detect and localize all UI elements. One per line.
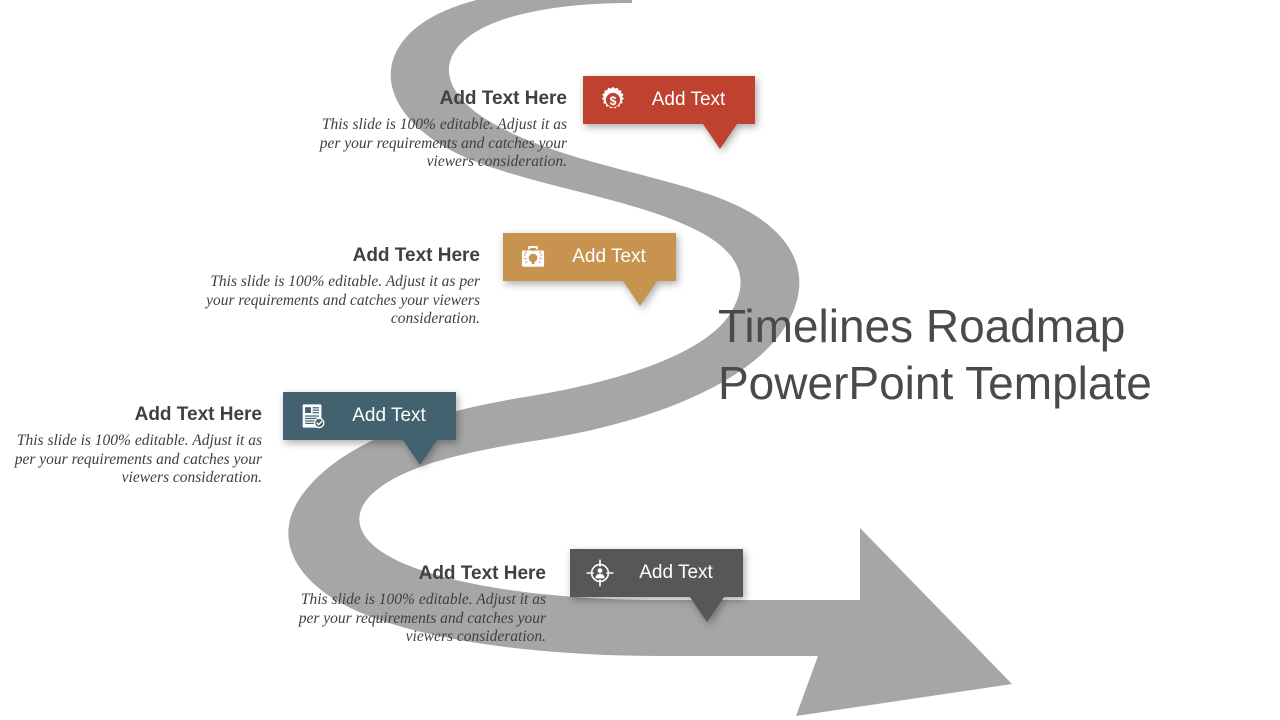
step-heading-1: Add Text Here — [305, 88, 567, 110]
step-text-block-2: Add Text Here This slide is 100% editabl… — [205, 245, 480, 329]
step-text-block-4: Add Text Here This slide is 100% editabl… — [290, 563, 546, 647]
target-person-icon — [583, 556, 617, 590]
document-check-icon — [296, 399, 330, 433]
gear-dollar-icon: $ — [596, 83, 630, 117]
step-badge-1-body[interactable]: $ Add Text — [583, 76, 755, 124]
briefcase-lightbulb-icon — [516, 240, 550, 274]
step-badge-1-label: Add Text — [630, 89, 755, 111]
step-badge-1[interactable]: $ Add Text — [583, 76, 755, 124]
step-badge-1-tail — [703, 124, 737, 149]
step-badge-2-label: Add Text — [550, 246, 676, 268]
step-body-3: This slide is 100% editable. Adjust it a… — [5, 432, 262, 488]
step-body-4: This slide is 100% editable. Adjust it a… — [290, 591, 546, 647]
step-heading-4: Add Text Here — [290, 563, 546, 585]
step-badge-3-tail — [403, 440, 437, 465]
step-text-block-1: Add Text Here This slide is 100% editabl… — [305, 88, 567, 172]
step-badge-3-label: Add Text — [330, 405, 456, 427]
step-badge-4-label: Add Text — [617, 562, 743, 584]
step-text-block-3: Add Text Here This slide is 100% editabl… — [5, 404, 262, 488]
page-title: Timelines Roadmap PowerPoint Template — [718, 298, 1258, 412]
step-badge-4-tail — [690, 597, 724, 622]
step-body-1: This slide is 100% editable. Adjust it a… — [305, 116, 567, 172]
step-badge-3[interactable]: Add Text — [283, 392, 456, 440]
step-badge-4[interactable]: Add Text — [570, 549, 743, 597]
svg-text:$: $ — [610, 94, 617, 108]
step-heading-2: Add Text Here — [205, 245, 480, 267]
step-badge-4-body[interactable]: Add Text — [570, 549, 743, 597]
step-body-2: This slide is 100% editable. Adjust it a… — [205, 273, 480, 329]
slide-canvas: Timelines Roadmap PowerPoint Template Ad… — [0, 0, 1280, 720]
step-badge-3-body[interactable]: Add Text — [283, 392, 456, 440]
step-badge-2-body[interactable]: Add Text — [503, 233, 676, 281]
step-badge-2-tail — [623, 281, 657, 306]
step-heading-3: Add Text Here — [5, 404, 262, 426]
step-badge-2[interactable]: Add Text — [503, 233, 676, 281]
